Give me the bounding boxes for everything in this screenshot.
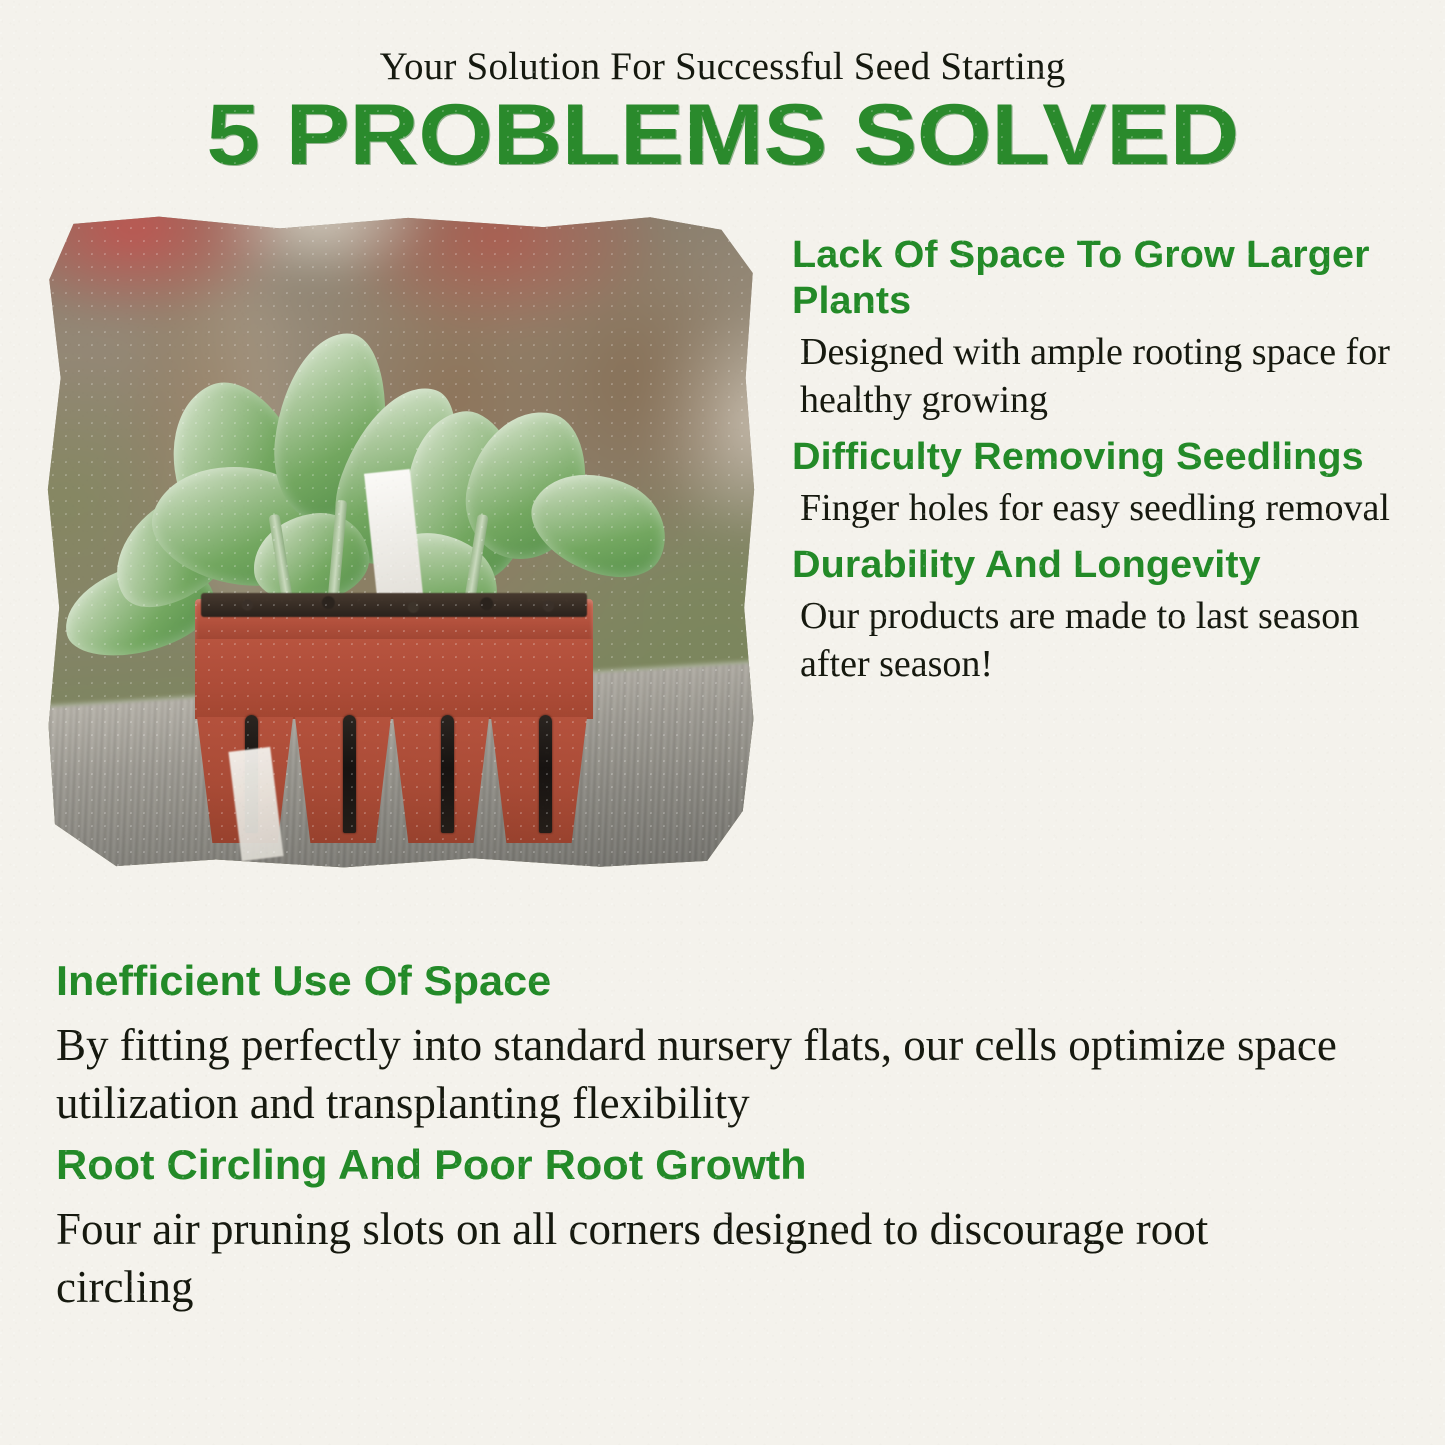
potting-soil bbox=[201, 593, 587, 617]
benefit-item: Difficulty Removing Seedlings Finger hol… bbox=[792, 434, 1392, 532]
infographic-page: Your Solution For Successful Seed Starti… bbox=[0, 0, 1445, 1445]
benefit-heading: Lack Of Space To Grow Larger Plants bbox=[792, 232, 1416, 324]
page-subtitle: Your Solution For Successful Seed Starti… bbox=[0, 44, 1445, 89]
tray-rim bbox=[195, 599, 593, 643]
benefit-body: Four air pruning slots on all corners de… bbox=[56, 1200, 1346, 1316]
benefit-item-inefficient-use-of-space: Inefficient Use Of Space By fitting perf… bbox=[56, 956, 1396, 1132]
benefit-item-root-circling: Root Circling And Poor Root Growth Four … bbox=[56, 1140, 1396, 1316]
benefit-heading: Durability And Longevity bbox=[792, 542, 1416, 588]
benefits-right-column: Lack Of Space To Grow Larger Plants Desi… bbox=[792, 232, 1392, 694]
air-pruning-slot bbox=[441, 715, 454, 833]
page-title: 5 PROBLEMS SOLVED bbox=[0, 92, 1445, 178]
benefit-body: Finger holes for easy seedling removal bbox=[800, 484, 1392, 532]
air-pruning-slot bbox=[343, 715, 356, 833]
benefit-body: Designed with ample rooting space for he… bbox=[800, 328, 1392, 424]
benefit-item: Lack Of Space To Grow Larger Plants Desi… bbox=[792, 232, 1392, 424]
seed-tray bbox=[195, 599, 593, 844]
air-pruning-slot bbox=[539, 715, 552, 833]
benefit-body: Our products are made to last season aft… bbox=[800, 592, 1392, 688]
benefit-heading: Inefficient Use Of Space bbox=[56, 956, 1436, 1006]
benefit-body: By fitting perfectly into standard nurse… bbox=[56, 1016, 1346, 1132]
benefit-item: Durability And Longevity Our products ar… bbox=[792, 542, 1392, 688]
tray-body bbox=[195, 639, 593, 719]
benefit-heading: Difficulty Removing Seedlings bbox=[792, 434, 1416, 480]
benefit-heading: Root Circling And Poor Root Growth bbox=[56, 1140, 1436, 1190]
product-photo bbox=[45, 214, 757, 870]
